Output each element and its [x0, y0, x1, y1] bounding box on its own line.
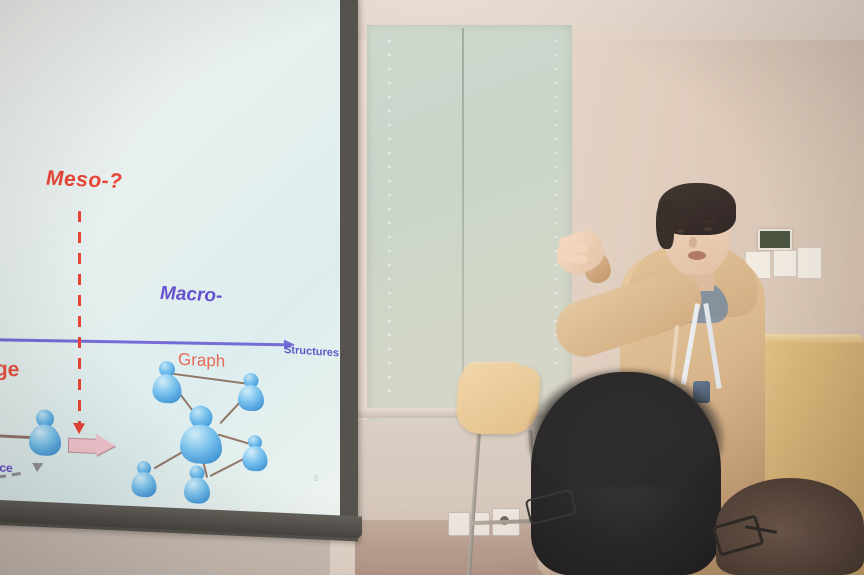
presenter-eyebrow	[674, 222, 687, 225]
presenter-nose	[689, 237, 697, 248]
glass-panel-seam	[462, 28, 464, 423]
person-icon	[183, 465, 211, 504]
presenter-hair-side	[656, 201, 674, 249]
glass-panel-dots-left	[388, 40, 391, 400]
person-icon	[179, 405, 223, 465]
light-switch-icon[interactable]	[797, 247, 822, 279]
arrow-right-icon	[68, 433, 116, 457]
person-icon	[242, 435, 268, 472]
person-icon	[237, 372, 265, 411]
label-knowledge-clipped: dge	[0, 357, 19, 383]
presenter-eyebrow	[702, 220, 715, 223]
label-macro: Macro-	[160, 283, 222, 308]
slide-number: 5	[314, 474, 318, 483]
person-icon	[28, 409, 62, 457]
person-icon	[151, 360, 182, 403]
axis-label-structures: Structures	[284, 344, 339, 359]
axis-line	[0, 338, 290, 346]
power-socket-icon[interactable]	[448, 512, 470, 536]
presenter-finger	[562, 254, 588, 264]
presenter-eye	[676, 229, 685, 233]
audience-front-left-hair-fuzz	[527, 368, 725, 488]
projected-slide: Structures Meso-? Macro- Graph dge tie u…	[0, 0, 340, 526]
influence-arrowhead-icon	[32, 459, 46, 472]
label-meso: Meso-?	[46, 167, 123, 194]
person-icon	[131, 461, 157, 498]
arrow-down-dashed-icon	[78, 211, 81, 426]
presenter-eye	[704, 227, 713, 231]
label-graph: Graph	[178, 350, 225, 372]
presenter-mouth	[688, 251, 706, 260]
photo-scene: Structures Meso-? Macro- Graph dge tie u…	[0, 0, 864, 575]
